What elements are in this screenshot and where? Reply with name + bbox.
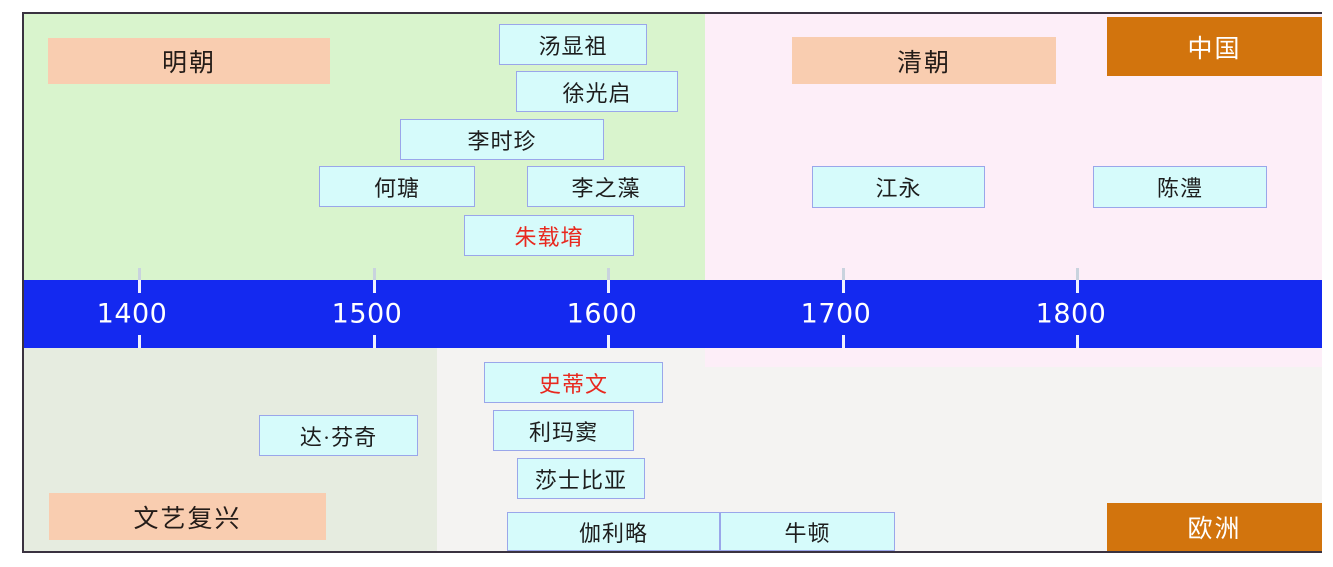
person-box-shakespeare[interactable]: 莎士比亚 bbox=[517, 458, 645, 499]
person-label: 利玛窦 bbox=[529, 415, 598, 447]
year-label-1500: 1500 bbox=[332, 299, 403, 330]
person-box-li-zhizao[interactable]: 李之藻 bbox=[527, 166, 685, 207]
era-bar-qing: 清朝 bbox=[792, 37, 1056, 84]
person-label: 达·芬奇 bbox=[300, 420, 377, 452]
tick-mark-outer bbox=[138, 268, 141, 280]
tick-mark bbox=[373, 280, 376, 293]
person-box-matteo-ricci[interactable]: 利玛窦 bbox=[493, 410, 634, 451]
person-label: 牛顿 bbox=[784, 516, 830, 548]
person-label: 徐光启 bbox=[562, 76, 631, 108]
region-tag-europe: 欧洲 bbox=[1107, 503, 1322, 551]
person-box-chen-li[interactable]: 陈澧 bbox=[1093, 166, 1267, 208]
person-label: 史蒂文 bbox=[539, 367, 608, 399]
era-bar-renaissance-label: 文艺复兴 bbox=[133, 499, 241, 535]
timeline-axis[interactable]: 1400 1500 1600 1700 1800 bbox=[24, 280, 1322, 348]
era-bar-ming-label: 明朝 bbox=[162, 43, 216, 79]
person-label: 李之藻 bbox=[571, 171, 640, 203]
person-box-simon-stevin[interactable]: 史蒂文 bbox=[484, 362, 663, 403]
diagram-frame: 明朝 清朝 中国 汤显祖 徐光启 李时珍 何瑭 李之藻 朱载堉 江永 bbox=[22, 12, 1322, 553]
year-label-1600: 1600 bbox=[567, 299, 638, 330]
region-tag-china-label: 中国 bbox=[1187, 29, 1241, 65]
era-bar-renaissance: 文艺复兴 bbox=[49, 493, 326, 540]
region-tag-europe-label: 欧洲 bbox=[1187, 509, 1241, 545]
person-box-galileo[interactable]: 伽利略 bbox=[507, 512, 720, 551]
person-box-li-shizhen[interactable]: 李时珍 bbox=[400, 119, 604, 160]
era-bar-qing-label: 清朝 bbox=[897, 43, 951, 79]
year-label-1700: 1700 bbox=[801, 299, 872, 330]
person-box-newton[interactable]: 牛顿 bbox=[720, 512, 895, 551]
person-label: 陈澧 bbox=[1157, 171, 1203, 203]
tick-mark-outer bbox=[842, 268, 845, 280]
person-label: 朱载堉 bbox=[514, 220, 583, 252]
tick-mark bbox=[607, 280, 610, 293]
person-box-tang-xianzu[interactable]: 汤显祖 bbox=[499, 24, 647, 65]
tick-mark bbox=[842, 280, 845, 293]
person-box-xu-guangqi[interactable]: 徐光启 bbox=[516, 71, 678, 112]
person-label: 莎士比亚 bbox=[535, 463, 627, 495]
tick-mark bbox=[138, 280, 141, 293]
tick-mark bbox=[138, 335, 141, 348]
tick-mark bbox=[1076, 335, 1079, 348]
region-tag-china: 中国 bbox=[1107, 17, 1322, 76]
person-label: 汤显祖 bbox=[538, 29, 607, 61]
era-bar-ming: 明朝 bbox=[48, 38, 330, 84]
tick-mark-outer bbox=[607, 268, 610, 280]
year-label-1800: 1800 bbox=[1036, 299, 1107, 330]
person-label: 何瑭 bbox=[374, 171, 420, 203]
tick-mark-outer bbox=[1076, 268, 1079, 280]
timeline-diagram: 明朝 清朝 中国 汤显祖 徐光启 李时珍 何瑭 李之藻 朱载堉 江永 bbox=[0, 0, 1333, 567]
tick-mark bbox=[607, 335, 610, 348]
year-label-1400: 1400 bbox=[97, 299, 168, 330]
person-box-zhu-zaiyu[interactable]: 朱载堉 bbox=[464, 215, 634, 256]
person-box-da-vinci[interactable]: 达·芬奇 bbox=[259, 415, 418, 456]
tick-mark bbox=[1076, 280, 1079, 293]
tick-mark bbox=[842, 335, 845, 348]
person-label: 江永 bbox=[875, 171, 921, 203]
person-label: 伽利略 bbox=[579, 516, 648, 548]
tick-mark bbox=[373, 335, 376, 348]
tick-mark-outer bbox=[373, 268, 376, 280]
person-box-he-tang[interactable]: 何瑭 bbox=[319, 166, 475, 207]
person-box-jiang-yong[interactable]: 江永 bbox=[812, 166, 985, 208]
person-label: 李时珍 bbox=[467, 124, 536, 156]
europe-pink-strip bbox=[705, 348, 1322, 367]
